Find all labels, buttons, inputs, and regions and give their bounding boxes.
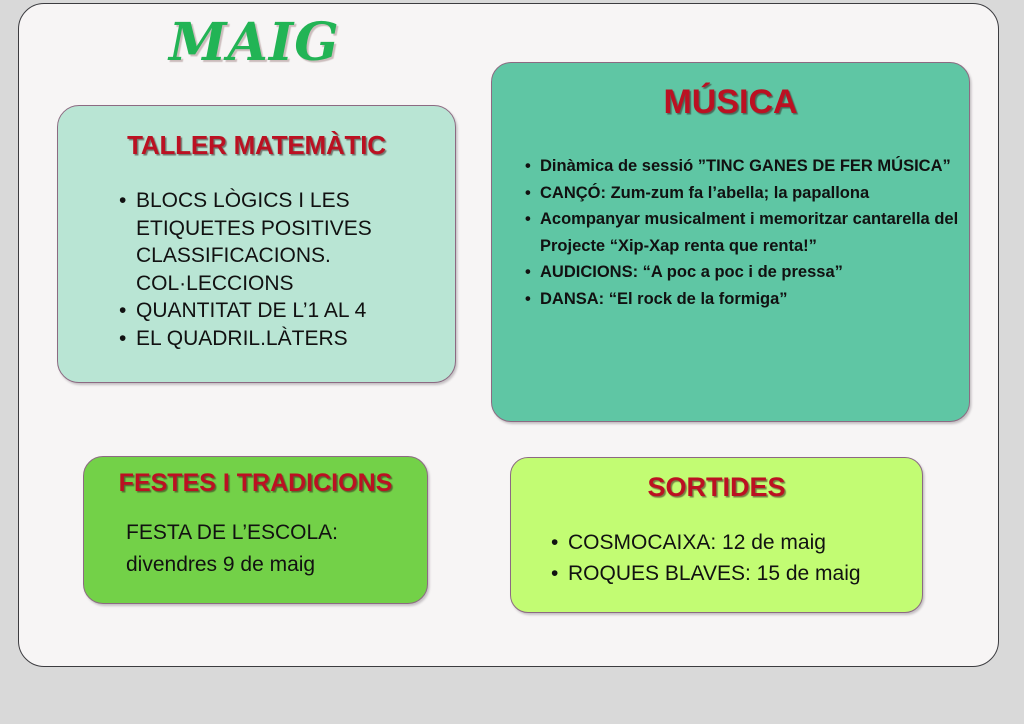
list-item: Dinàmica de sessió ”TINC GANES DE FER MÚ… (540, 153, 969, 180)
page-title: MAIG (169, 12, 340, 73)
card-title-sortides: SORTIDES (511, 472, 922, 503)
list-taller-matematic: BLOCS LÒGICS I LES ETIQUETES POSITIVES C… (58, 187, 455, 352)
festes-body: FESTA DE L’ESCOLA: divendres 9 de maig (84, 517, 427, 581)
card-festes-i-tradicions: FESTES I TRADICIONS FESTA DE L’ESCOLA: d… (83, 456, 428, 604)
list-item: BLOCS LÒGICS I LES ETIQUETES POSITIVES C… (136, 187, 455, 297)
festes-line-2: divendres 9 de maig (126, 549, 427, 581)
list-item: AUDICIONS: “A poc a poc i de pressa” (540, 259, 969, 286)
list-item: ROQUES BLAVES: 15 de maig (568, 558, 922, 589)
card-title-musica: MÚSICA (492, 83, 969, 122)
list-item: CANÇÓ: Zum-zum fa l’abella; la papallona (540, 180, 969, 207)
list-item: COSMOCAIXA: 12 de maig (568, 527, 922, 558)
card-taller-matematic: TALLER MATEMÀTIC BLOCS LÒGICS I LES ETIQ… (57, 105, 456, 383)
list-item: DANSA: “El rock de la formiga” (540, 286, 969, 313)
card-title-festes-i-tradicions: FESTES I TRADICIONS (84, 469, 427, 498)
list-item: EL QUADRIL.LÀTERS (136, 325, 455, 353)
card-sortides: SORTIDES COSMOCAIXA: 12 de maig ROQUES B… (510, 457, 923, 613)
list-musica: Dinàmica de sessió ”TINC GANES DE FER MÚ… (492, 153, 969, 312)
card-musica: MÚSICA Dinàmica de sessió ”TINC GANES DE… (491, 62, 970, 422)
list-item: QUANTITAT DE L’1 AL 4 (136, 297, 455, 325)
slide-page: MAIG TALLER MATEMÀTIC BLOCS LÒGICS I LES… (18, 3, 999, 667)
festes-line-1: FESTA DE L’ESCOLA: (126, 517, 427, 549)
list-sortides: COSMOCAIXA: 12 de maig ROQUES BLAVES: 15… (511, 527, 922, 589)
card-title-taller-matematic: TALLER MATEMÀTIC (58, 130, 455, 161)
list-item: Acompanyar musicalment i memoritzar cant… (540, 206, 969, 259)
